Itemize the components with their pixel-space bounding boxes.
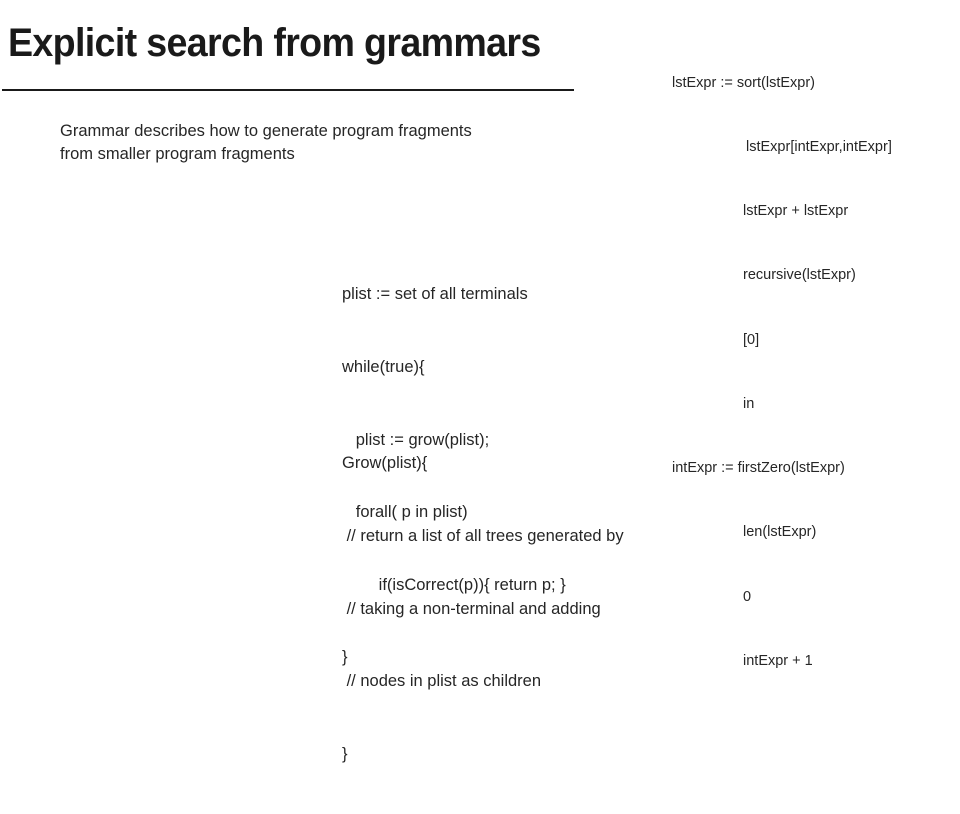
lead-line-1: Grammar describes how to generate progra…	[60, 120, 472, 143]
code-line: Grow(plist){	[342, 451, 624, 475]
slide-canvas: Explicit search from grammars Grammar de…	[0, 0, 960, 540]
code-line: while(true){	[342, 355, 566, 379]
grammar-intexpr-alt: len(lstExpr)	[672, 522, 892, 543]
code-line: // nodes in plist as children	[342, 669, 624, 693]
grammar-intexpr-alt: 0	[672, 587, 892, 608]
grammar-lstexpr-alt: in	[672, 394, 892, 415]
lead-paragraph: Grammar describes how to generate progra…	[60, 120, 472, 166]
lead-line-2: from smaller program fragments	[60, 143, 472, 166]
grammar-lstexpr-alt: lstExpr[intExpr,intExpr]	[672, 137, 892, 158]
pseudocode-grow-function: Grow(plist){ // return a list of all tre…	[342, 403, 624, 814]
code-line: // return a list of all trees generated …	[342, 524, 624, 548]
grammar-lstexpr-alt: recursive(lstExpr)	[672, 265, 892, 286]
grammar-definition-block: lstExpr := sort(lstExpr) lstExpr[intExpr…	[672, 30, 892, 715]
grammar-intexpr-head: intExpr := firstZero(lstExpr)	[672, 458, 892, 479]
grammar-lstexpr-alt: lstExpr + lstExpr	[672, 201, 892, 222]
code-line: // taking a non-terminal and adding	[342, 597, 624, 621]
page-title: Explicit search from grammars	[8, 20, 541, 66]
title-underline-rule	[2, 89, 574, 91]
code-line: plist := set of all terminals	[342, 282, 566, 306]
grammar-lstexpr-head: lstExpr := sort(lstExpr)	[672, 73, 892, 94]
grammar-intexpr-alt: intExpr + 1	[672, 651, 892, 672]
grammar-lstexpr-alt: [0]	[672, 330, 892, 351]
code-line: }	[342, 742, 624, 766]
